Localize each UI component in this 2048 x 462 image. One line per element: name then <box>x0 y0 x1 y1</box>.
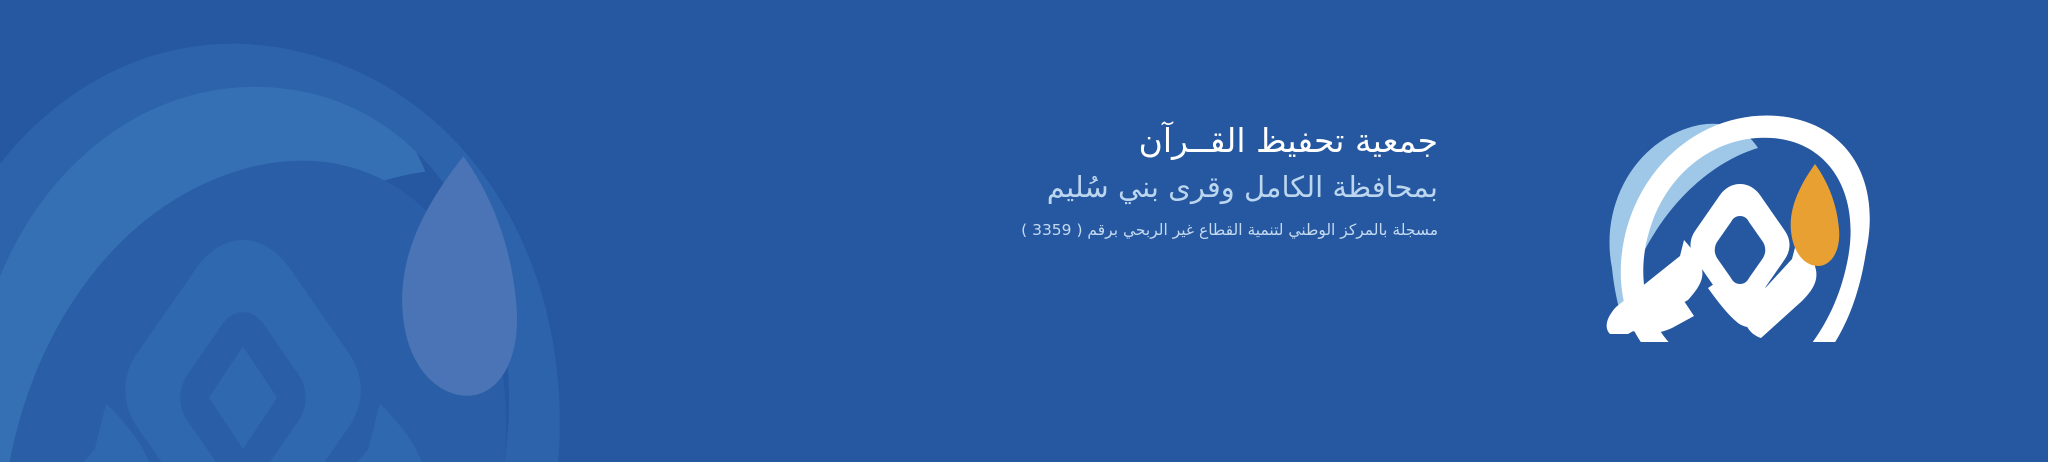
watermark-flame-shape <box>402 156 517 395</box>
association-registration-note: مسجلة بالمركز الوطني لتنمية القطاع غير ا… <box>798 217 1438 243</box>
association-title-line-2: بمحافظة الكامل وقرى بني سُليم <box>798 166 1438 208</box>
logo-flame-shape <box>1791 164 1840 266</box>
association-title-line-1: جمعية تحفيظ القــرآن <box>798 118 1438 164</box>
site-header-banner: جمعية تحفيظ القــرآن بمحافظة الكامل وقرى… <box>0 0 2048 462</box>
brand-text-block: جمعية تحفيظ القــرآن بمحافظة الكامل وقرى… <box>798 118 1438 243</box>
watermark-field-shape <box>1 161 506 462</box>
logo-watermark <box>0 0 642 462</box>
watermark-arc-shape <box>0 44 560 462</box>
watermark-calligraphy-mark <box>0 240 426 462</box>
watermark-dome-shape <box>0 58 425 462</box>
association-logo: شعار جمعية تحفيظ القرآن بمحافظة الكامل <box>1598 112 1898 342</box>
